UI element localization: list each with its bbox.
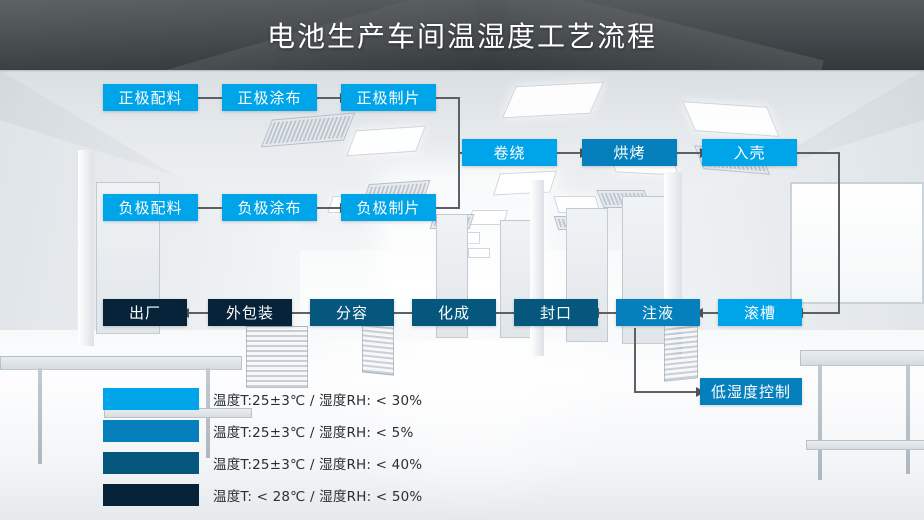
legend-swatch-level1 <box>103 388 199 410</box>
connector-n09-right <box>796 152 840 154</box>
flow-node-zhengji-tubu[interactable]: 正极涂布 <box>222 84 317 111</box>
flow-node-label: 正极涂布 <box>237 87 301 108</box>
flow-node-huacheng[interactable]: 化成 <box>412 299 496 326</box>
page-title: 电池生产车间温湿度工艺流程 <box>0 0 924 70</box>
flow-node-zhuye[interactable]: 注液 <box>616 299 700 326</box>
flow-node-fuji-peiliao[interactable]: 负极配料 <box>103 194 198 221</box>
flow-node-fengkou[interactable]: 封口 <box>514 299 598 326</box>
connector-n02-n03 <box>316 97 342 99</box>
flow-node-chuchang[interactable]: 出厂 <box>103 299 187 326</box>
legend-label: 温度T:25±3℃ / 湿度RH: < 40% <box>213 453 422 473</box>
legend-item: 温度T:25±3℃ / 湿度RH: < 30% <box>103 383 533 415</box>
connector-n01-n02 <box>198 97 224 99</box>
flow-node-fenrong[interactable]: 分容 <box>310 299 394 326</box>
connector-n05-n06 <box>316 207 342 209</box>
connector-n06-merge <box>436 207 460 209</box>
flow-node-label: 滚槽 <box>744 302 776 323</box>
legend-swatch-level3 <box>103 452 199 474</box>
connector-n11-down <box>634 328 636 393</box>
flow-node-guncao[interactable]: 滚槽 <box>718 299 802 326</box>
slide-canvas: 电池生产车间温湿度工艺流程 正极配料 正极涂布 正极制 <box>0 0 924 520</box>
connector-right-down <box>838 152 840 313</box>
flow-node-label: 低湿度控制 <box>711 381 791 402</box>
flow-node-zhengji-zhipian[interactable]: 正极制片 <box>341 84 436 111</box>
connector-down-n17 <box>634 391 698 393</box>
flow-node-label: 正极配料 <box>118 87 182 108</box>
flow-node-label: 出厂 <box>129 302 161 323</box>
connector-n04-n05 <box>198 207 224 209</box>
legend-item: 温度T: < 28℃ / 湿度RH: < 50% <box>103 479 533 511</box>
legend-label: 温度T:25±3℃ / 湿度RH: < 5% <box>213 421 413 441</box>
legend: 温度T:25±3℃ / 湿度RH: < 30% 温度T:25±3℃ / 湿度RH… <box>103 383 533 511</box>
flow-node-label: 烘烤 <box>613 142 645 163</box>
flow-node-dishidu-kongzhi[interactable]: 低湿度控制 <box>700 378 802 405</box>
legend-swatch-level4 <box>103 484 199 506</box>
flow-node-label: 封口 <box>540 302 572 323</box>
connector-n07-n08 <box>556 152 582 154</box>
legend-label: 温度T:25±3℃ / 湿度RH: < 30% <box>213 389 422 409</box>
connector-n03-merge <box>436 97 460 99</box>
legend-item: 温度T:25±3℃ / 湿度RH: < 40% <box>103 447 533 479</box>
connector-down-n10 <box>800 312 840 314</box>
flow-node-waibaozhuang[interactable]: 外包装 <box>208 299 292 326</box>
flow-node-label: 分容 <box>336 302 368 323</box>
flow-node-label: 负极涂布 <box>237 197 301 218</box>
flow-node-zhengji-peiliao[interactable]: 正极配料 <box>103 84 198 111</box>
flow-node-ruke[interactable]: 入壳 <box>702 139 797 166</box>
legend-label: 温度T: < 28℃ / 湿度RH: < 50% <box>213 485 422 505</box>
flow-node-label: 卷绕 <box>493 142 525 163</box>
flow-node-label: 化成 <box>438 302 470 323</box>
flow-node-juanrao[interactable]: 卷绕 <box>462 139 557 166</box>
flow-node-fuji-tubu[interactable]: 负极涂布 <box>222 194 317 221</box>
flow-node-label: 入壳 <box>733 142 765 163</box>
connector-n08-n09 <box>676 152 702 154</box>
flow-node-label: 负极配料 <box>118 197 182 218</box>
flow-node-label: 正极制片 <box>356 87 420 108</box>
flow-node-label: 注液 <box>642 302 674 323</box>
flow-node-label: 负极制片 <box>356 197 420 218</box>
legend-swatch-level2 <box>103 420 199 442</box>
legend-item: 温度T:25±3℃ / 湿度RH: < 5% <box>103 415 533 447</box>
flow-node-hongkao[interactable]: 烘烤 <box>582 139 677 166</box>
header-divider <box>0 70 924 72</box>
flow-node-fuji-zhipian[interactable]: 负极制片 <box>341 194 436 221</box>
flow-node-label: 外包装 <box>226 302 274 323</box>
